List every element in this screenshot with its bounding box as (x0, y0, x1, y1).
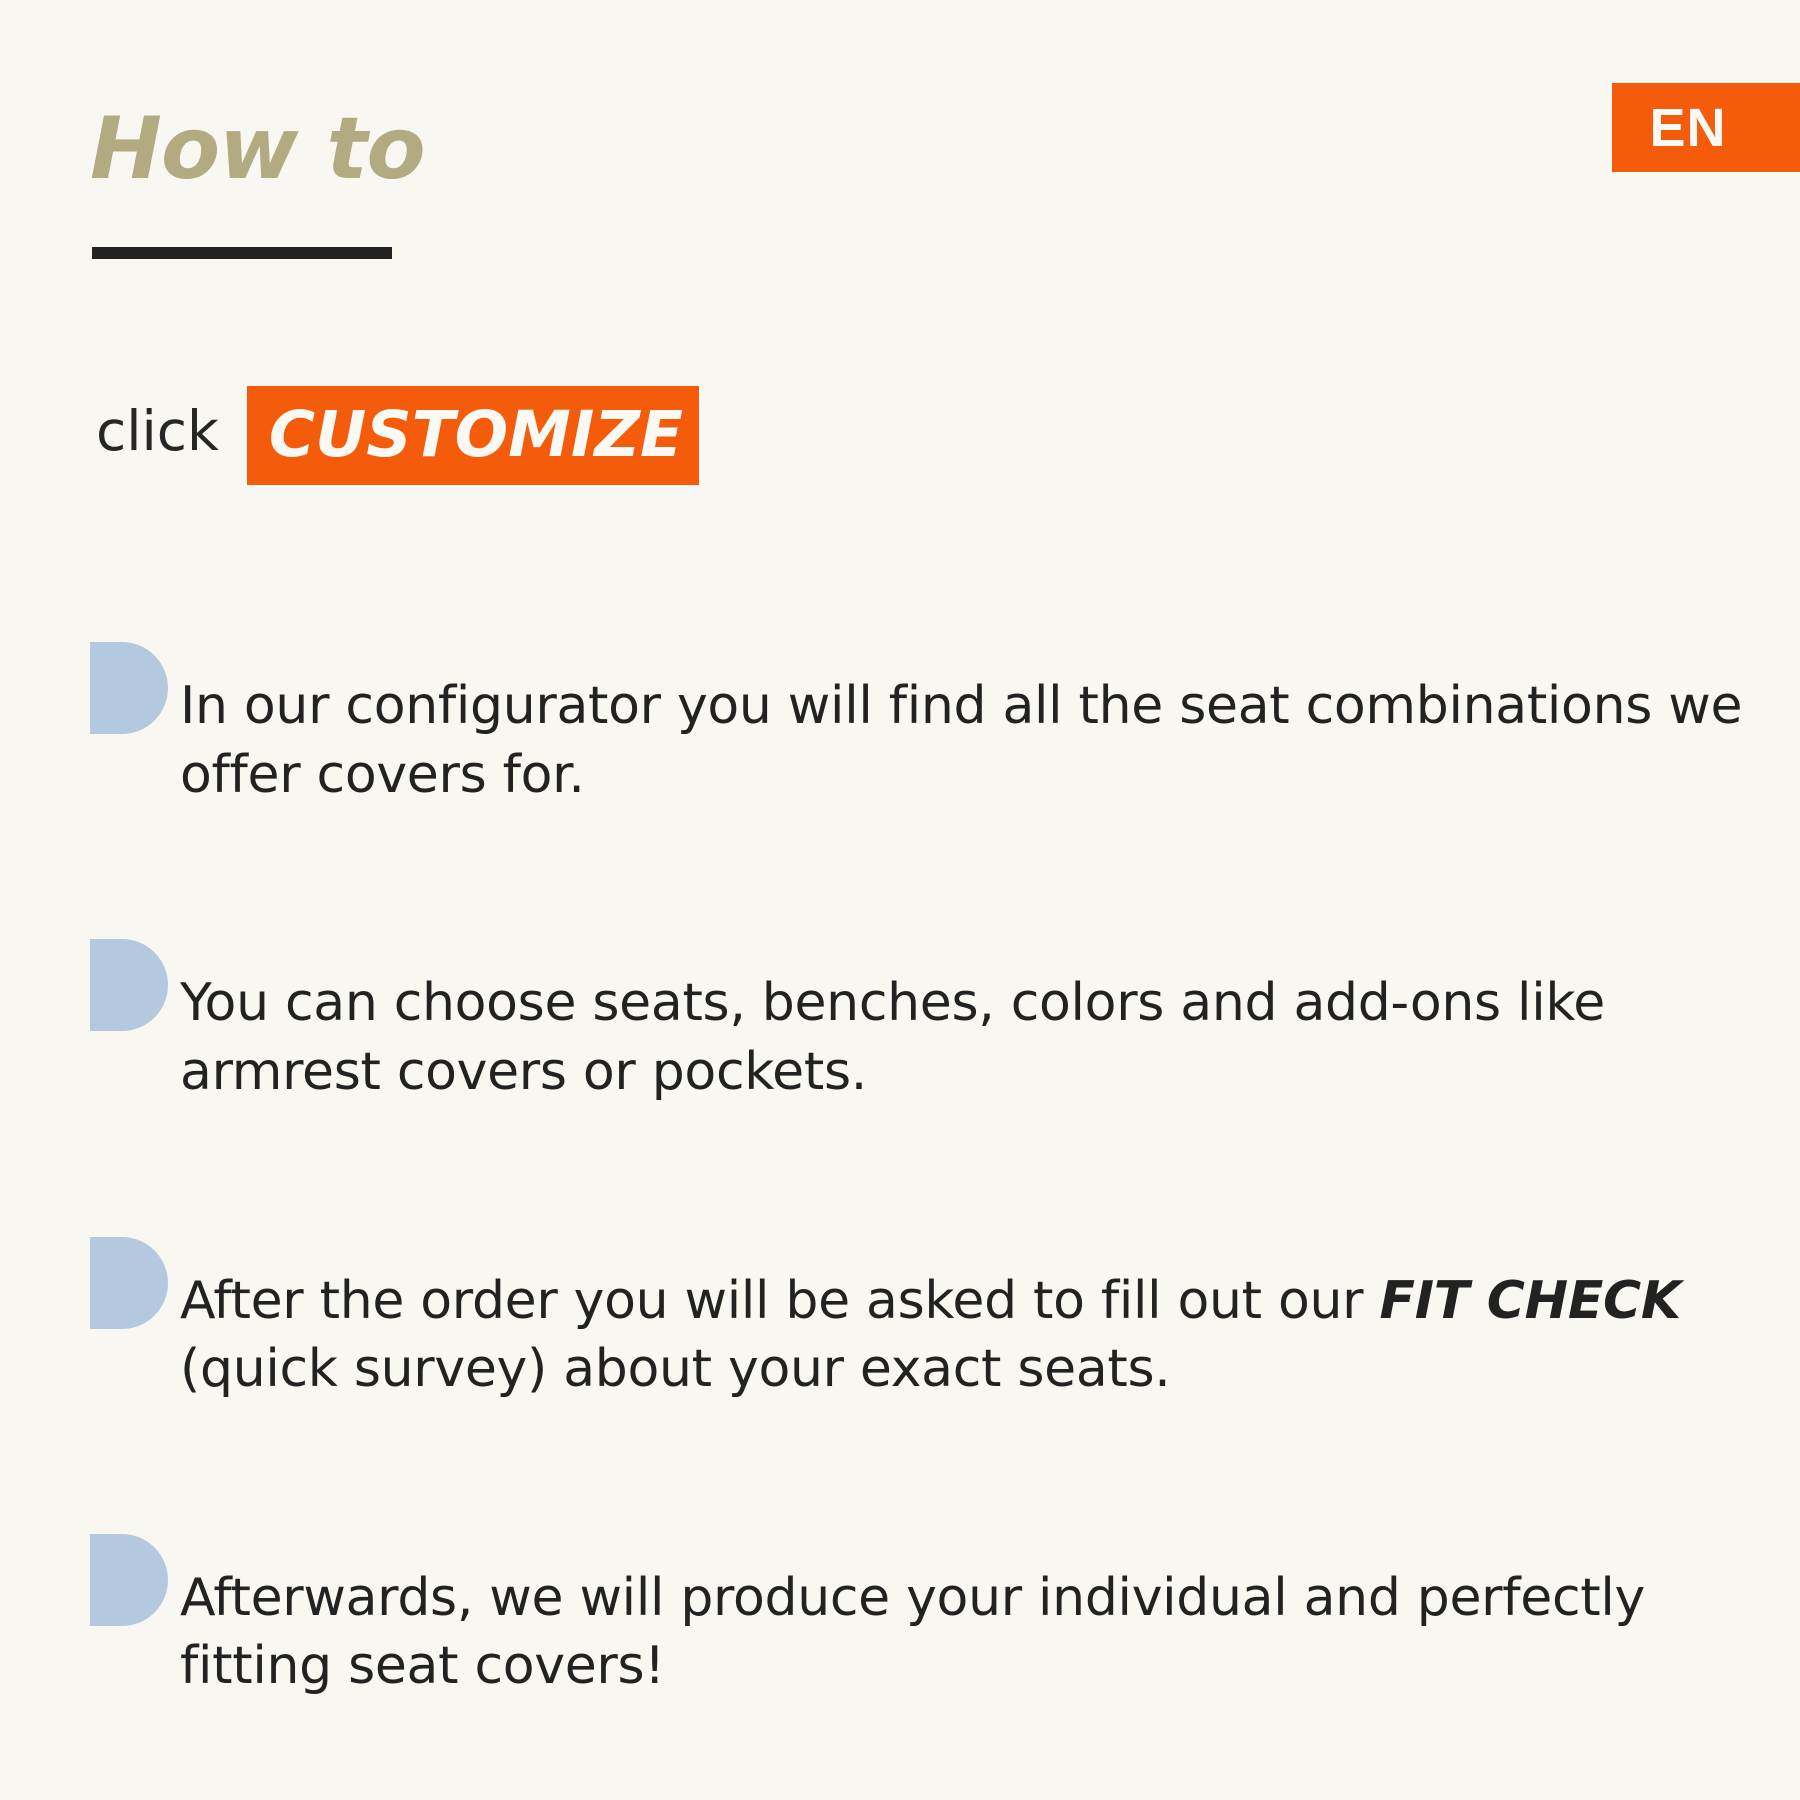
heading-block: How to (90, 104, 425, 259)
list-item-text-pre: Afterwards, we will produce your individ… (180, 1568, 1645, 1697)
title-underline-rule (92, 247, 392, 259)
language-badge-label: EN (1649, 101, 1762, 155)
list-item: You can choose seats, benches, colors an… (90, 917, 1750, 1158)
page-title: How to (90, 104, 425, 194)
list-item: In our configurator you will find all th… (90, 620, 1750, 861)
poster-canvas: EN How to click CUSTOMIZE In our configu… (0, 0, 1800, 1800)
list-item-text: Afterwards, we will produce your individ… (180, 1564, 1750, 1701)
steps-list: In our configurator you will find all th… (90, 620, 1750, 1753)
list-item-text-pre: In our configurator you will find all th… (180, 676, 1742, 805)
customize-button[interactable]: CUSTOMIZE (247, 386, 699, 485)
bullet-d-shape-icon (90, 1237, 168, 1329)
list-item: Afterwards, we will produce your individ… (90, 1512, 1750, 1753)
bullet-d-shape-icon (90, 939, 168, 1031)
list-item-text-post: (quick survey) about your exact seats. (180, 1339, 1171, 1399)
cta-row: click CUSTOMIZE (96, 386, 699, 485)
cta-prefix-label: click (96, 404, 219, 467)
list-item-text: In our configurator you will find all th… (180, 672, 1750, 809)
bullet-d-shape-icon (90, 642, 168, 734)
list-item-text-pre: After the order you will be asked to fil… (180, 1271, 1380, 1331)
list-item: After the order you will be asked to fil… (90, 1215, 1750, 1456)
language-badge[interactable]: EN (1612, 83, 1800, 172)
bullet-d-shape-icon (90, 1534, 168, 1626)
list-item-text: After the order you will be asked to fil… (180, 1267, 1750, 1404)
list-item-text-strong: FIT CHECK (1380, 1271, 1681, 1331)
list-item-text-pre: You can choose seats, benches, colors an… (180, 973, 1605, 1102)
list-item-text: You can choose seats, benches, colors an… (180, 969, 1750, 1106)
